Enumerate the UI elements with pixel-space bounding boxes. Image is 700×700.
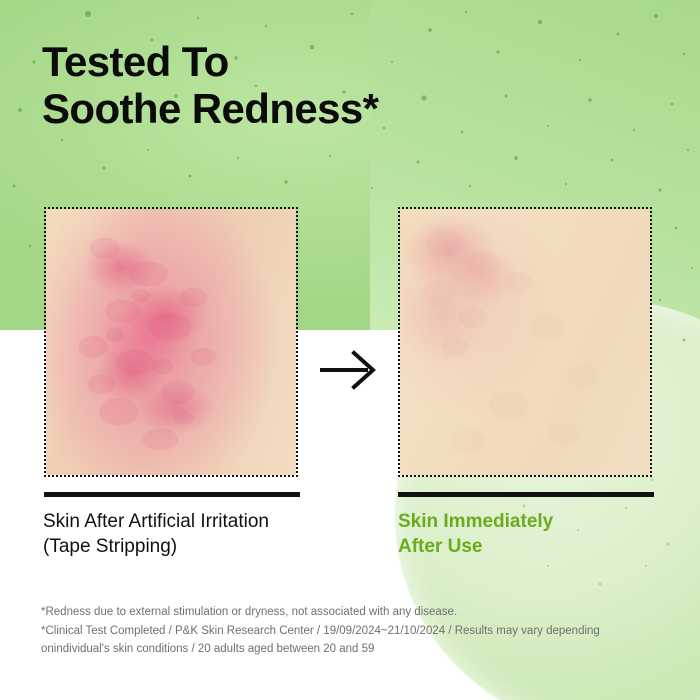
headline-line-1: Tested To [42,38,562,85]
arrow-right-icon [318,348,380,392]
promo-image: Tested To Soothe Redness* [0,0,700,700]
after-photo-panel [398,207,652,477]
footnote-line-3: onindividual's skin conditions / 20 adul… [41,640,666,659]
before-caption-rule [44,492,300,497]
footnote-line-1: *Redness due to external stimulation or … [41,603,666,622]
after-caption: Skin Immediately After Use [398,509,678,560]
footnote-block: *Redness due to external stimulation or … [41,603,666,659]
before-skin-texture [46,209,296,475]
footnote-line-2: *Clinical Test Completed / P&K Skin Rese… [41,622,666,641]
before-photo-panel [44,207,298,477]
after-caption-rule [398,492,654,497]
before-caption: Skin After Artificial Irritation (Tape S… [43,509,343,560]
after-skin-texture [400,209,650,475]
page-title: Tested To Soothe Redness* [42,38,562,132]
headline-line-2: Soothe Redness* [42,85,562,132]
